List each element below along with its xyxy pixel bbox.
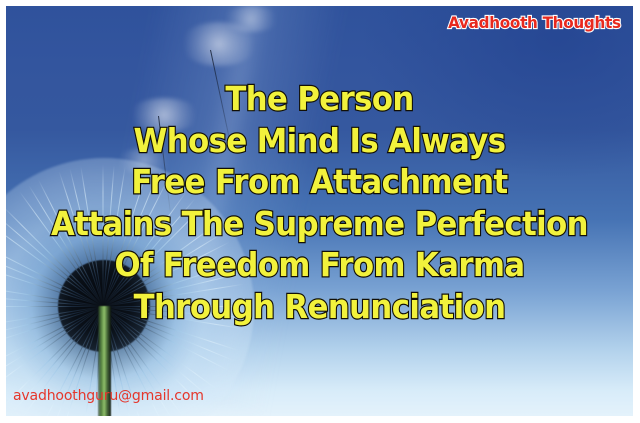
floating-dandelion-seed-icon [154,110,264,240]
quote-line: Through Renunciation [28,286,611,328]
quote-text-block: The Person Whose Mind Is Always Free Fro… [6,78,633,327]
quote-line: Of Freedom From Karma [28,244,611,286]
floating-dandelion-seed-icon [202,42,322,192]
quote-line: Whose Mind Is Always [28,120,611,162]
quote-line: Attains The Supreme Perfection [28,203,611,245]
quote-line: The Person [28,78,611,120]
floating-dandelion-seed-icon [236,14,306,54]
quote-poster: Avadhooth Thoughts The Person Whose Mind… [0,0,640,423]
quote-line: Free From Attachment [28,161,611,203]
dandelion-seed-head-icon [6,158,254,416]
brand-watermark: Avadhooth Thoughts [448,13,621,32]
poster-canvas: Avadhooth Thoughts The Person Whose Mind… [6,6,633,416]
floating-dandelion-seed-icon [126,154,196,198]
light-shaft-decoration [80,6,354,416]
contact-email-text: avadhoothguru@gmail.com [13,388,204,404]
